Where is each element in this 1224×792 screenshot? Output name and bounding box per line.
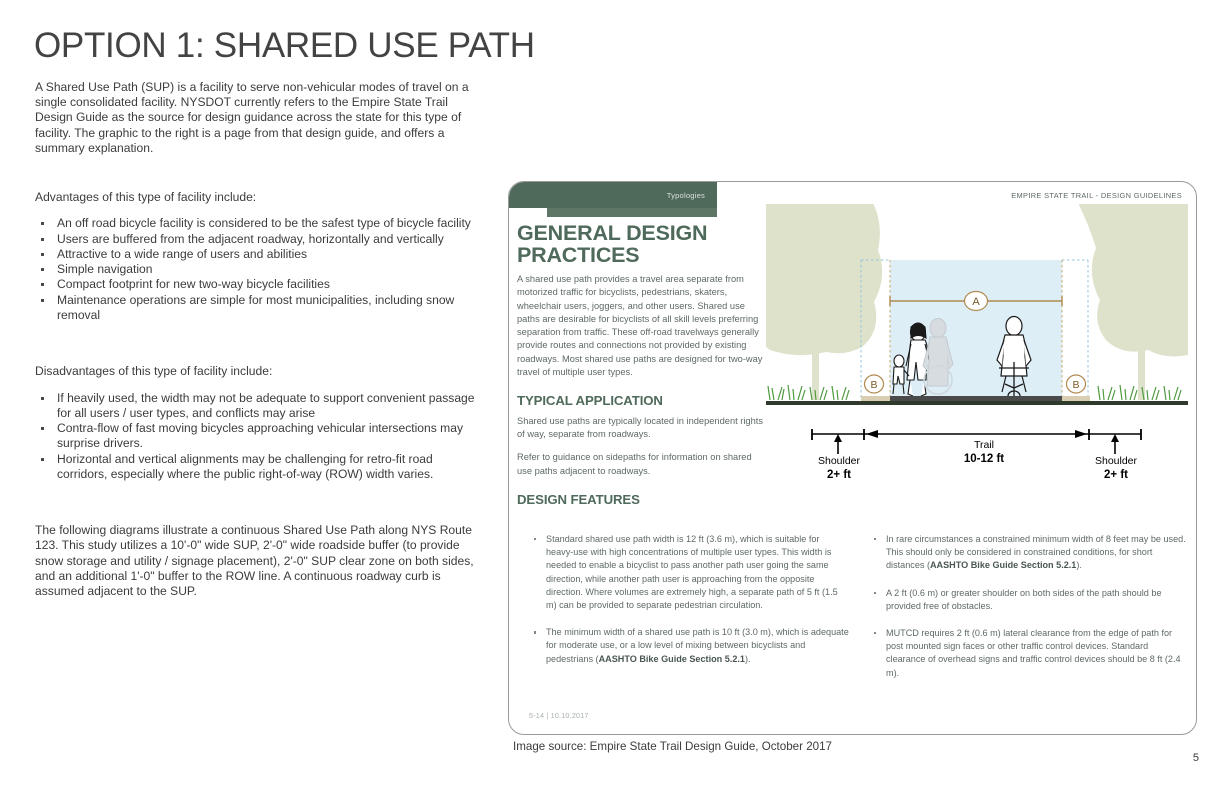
typical-application-p1: Shared use paths are typically located i… xyxy=(517,415,767,442)
guide-title: GENERAL DESIGN PRACTICES xyxy=(517,223,767,266)
list-item: Standard shared use path width is 12 ft … xyxy=(529,533,849,612)
advantages-list: An off road bicycle facility is consider… xyxy=(35,216,483,323)
advantages-heading: Advantages of this type of facility incl… xyxy=(35,190,483,205)
typologies-tab: Typologies xyxy=(509,182,717,208)
guide-page-footer: 5-14 | 10.10.2017 xyxy=(529,711,589,720)
list-item: Simple navigation xyxy=(35,262,483,277)
list-item: The minimum width of a shared use path i… xyxy=(529,626,849,666)
embedded-design-guide-page: Typologies EMPIRE STATE TRAIL - DESIGN G… xyxy=(508,181,1197,735)
list-item: Users are buffered from the adjacent roa… xyxy=(35,232,483,247)
design-features-right: In rare circumstances a constrained mini… xyxy=(869,533,1187,694)
list-item: Contra-flow of fast moving bicycles appr… xyxy=(35,421,483,452)
page-title: OPTION 1: SHARED USE PATH xyxy=(34,26,535,66)
image-source-caption: Image source: Empire State Trail Design … xyxy=(513,740,832,753)
design-features-heading: DESIGN FEATURES xyxy=(517,493,767,506)
callout-b-right-label: B xyxy=(1072,379,1079,391)
callout-b-left-label: B xyxy=(870,379,877,391)
document-page: OPTION 1: SHARED USE PATH A Shared Use P… xyxy=(0,0,1224,792)
intro-paragraph: A Shared Use Path (SUP) is a facility to… xyxy=(35,80,483,156)
guide-header-right: EMPIRE STATE TRAIL - DESIGN GUIDELINES xyxy=(1011,191,1182,200)
disadvantages-list: If heavily used, the width may not be ad… xyxy=(35,391,483,483)
shared-use-path-cross-section-illustration: A B B xyxy=(766,204,1188,482)
callout-a: A xyxy=(965,292,988,311)
page-number: 5 xyxy=(1193,752,1199,764)
tab-shadow xyxy=(547,208,717,217)
vegetation-left xyxy=(768,385,849,400)
closing-paragraph: The following diagrams illustrate a cont… xyxy=(35,523,483,599)
list-item: MUTCD requires 2 ft (0.6 m) lateral clea… xyxy=(869,627,1187,680)
list-item: Compact footprint for new two-way bicycl… xyxy=(35,277,483,292)
disadvantages-heading: Disadvantages of this type of facility i… xyxy=(35,364,483,379)
ground-line xyxy=(766,401,1188,405)
dimension-callout-block xyxy=(804,428,1149,482)
list-item: Maintenance operations are simple for mo… xyxy=(35,293,483,324)
callout-b-left: B xyxy=(865,375,884,393)
left-content-column: A Shared Use Path (SUP) is a facility to… xyxy=(35,80,483,613)
guide-left-text: A shared use path provides a travel area… xyxy=(517,273,767,513)
typical-application-heading: TYPICAL APPLICATION xyxy=(517,394,767,407)
guide-intro: A shared use path provides a travel area… xyxy=(517,273,767,379)
list-item: A 2 ft (0.6 m) or greater shoulder on bo… xyxy=(869,587,1187,613)
list-item: If heavily used, the width may not be ad… xyxy=(35,391,483,422)
list-item: In rare circumstances a constrained mini… xyxy=(869,533,1187,573)
list-item: Horizontal and vertical alignments may b… xyxy=(35,452,483,483)
list-item: An off road bicycle facility is consider… xyxy=(35,216,483,231)
typologies-tab-label: Typologies xyxy=(667,191,705,200)
tree-canopy-left xyxy=(766,204,882,355)
callout-b-right: B xyxy=(1067,375,1086,393)
design-features-left: Standard shared use path width is 12 ft … xyxy=(529,533,849,680)
typical-application-p2: Refer to guidance on sidepaths for infor… xyxy=(517,451,767,478)
list-item: Attractive to a wide range of users and … xyxy=(35,247,483,262)
callout-a-label: A xyxy=(972,296,980,308)
